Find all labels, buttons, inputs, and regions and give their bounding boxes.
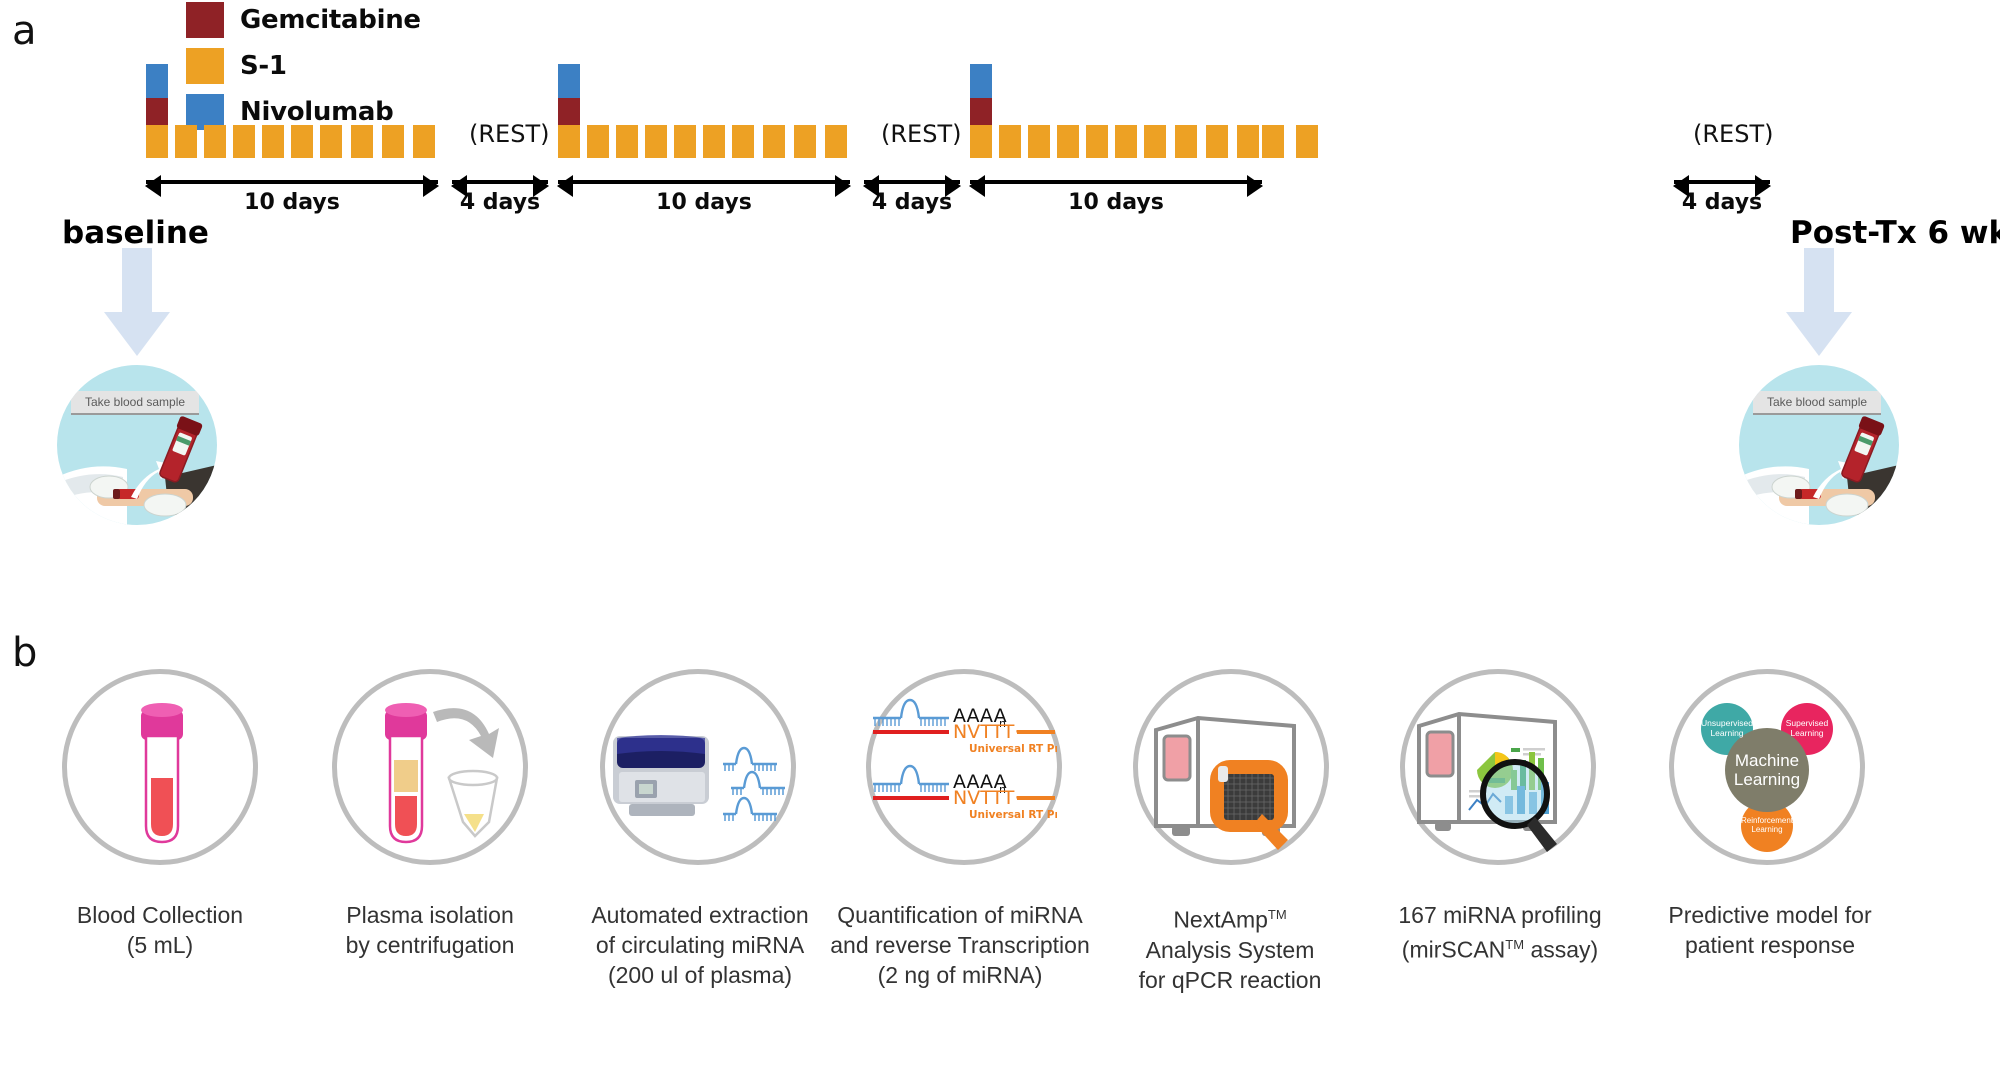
legend-label-gemcitabine: Gemcitabine [240,5,421,35]
duration-label: 10 days [558,190,850,215]
dose-bar-s1 [351,125,373,158]
cycle-3-doses [970,62,1260,158]
dose-bar-s1 [616,125,638,158]
workflow-circle-blood-collection [62,669,258,865]
duration-cycle-1: 10 days [146,180,438,215]
qpcr-analyzer-icon [1138,674,1324,860]
workflow-circle-mirna-profiling [1400,669,1596,865]
caption-line: for qPCR reaction [1070,965,1390,995]
panel-a-letter: a [12,8,37,54]
ml-node-label: Unsupervised Learning [1701,719,1753,738]
duration-label: 10 days [146,190,438,215]
dose-bar-s1 [1296,125,1318,158]
dose-bar-day1-cycle2 [558,64,580,158]
duration-rest-3: 4 days [1674,180,1770,215]
legend-item-gemcitabine: Gemcitabine [186,2,421,38]
workflow-circle-quantification-rt: AAAA n NVTTT··· Universal RT Primer AAAA… [866,669,1062,865]
blood-draw-scene-icon [1739,365,1899,525]
gemcitabine-segment [146,98,168,125]
centrifuge-tube-icon [337,674,523,860]
nivolumab-segment [970,64,992,98]
dose-bar-s1 [1086,125,1108,158]
duration-cycle-2: 10 days [558,180,850,215]
dose-bar-s1 [204,125,226,158]
dose-bar-s1 [645,125,667,158]
dose-bar-s1 [732,125,754,158]
dose-bar-s1 [233,125,255,158]
legend-swatch-gemcitabine [186,2,224,38]
dose-bar-s1 [1144,125,1166,158]
dose-bar-s1 [262,125,284,158]
dose-bar-s1 [703,125,725,158]
dose-bar-s1 [1262,125,1284,158]
dose-bar-s1 [413,125,435,158]
dose-bar-s1 [175,125,197,158]
blood-tube-icon [67,674,253,860]
s1-segment [970,125,992,158]
dose-bar-s1 [1028,125,1050,158]
workflow-circle-plasma-isolation [332,669,528,865]
workflow-circle-automated-extraction [600,669,796,865]
duration-arrow [146,180,438,184]
extraction-instrument-icon [605,674,791,860]
cycle-1-doses [146,62,436,158]
duration-rest-1: 4 days [452,180,548,215]
caption-line: patient response [1610,930,1930,960]
workflow-circle-predictive-model: Unsupervised Learning Supervised Learnin… [1669,669,1865,865]
timepoint-label-post-tx: Post-Tx 6 wks [1790,215,2000,251]
s1-segment [146,125,168,158]
post-tx-down-arrow-icon [1786,248,1852,356]
magnifier-charts-icon [1405,674,1591,860]
dose-bar-s1 [674,125,696,158]
gemcitabine-segment [970,98,992,125]
dose-bar-s1 [825,125,847,158]
dose-bar-s1 [587,125,609,158]
nivolumab-segment [146,64,168,98]
duration-rest-2: 4 days [864,180,960,215]
gemcitabine-segment [558,98,580,125]
ml-node-supervised: Supervised Learning [1784,706,1830,752]
duration-cycle-3: 10 days [970,180,1262,215]
dose-bar-s1 [382,125,404,158]
duration-arrow [864,180,960,184]
duration-label: 10 days [970,190,1262,215]
dose-bar-s1 [1057,125,1079,158]
duration-arrow [452,180,548,184]
dose-bar-s1 [1206,125,1228,158]
rest-label-3: (REST) [1693,120,1773,148]
workflow-circle-nextamp-qpcr [1133,669,1329,865]
dose-bar-s1 [1175,125,1197,158]
ml-node-label: Supervised Learning [1784,719,1830,738]
timepoint-label-baseline: baseline [62,215,209,251]
dose-bar-s1 [291,125,313,158]
ml-node-label: Reinforcement Learning [1741,817,1793,835]
duration-arrow [558,180,850,184]
dose-bar-s1 [763,125,785,158]
blood-draw-scene-icon [57,365,217,525]
rest-label-2: (REST) [881,120,961,148]
dose-bar-day1-cycle1 [146,64,168,158]
rt-primer-diagram-icon: AAAA n NVTTT··· Universal RT Primer AAAA… [871,674,1057,860]
baseline-down-arrow-icon [104,248,170,356]
svg-text:Universal RT Primer: Universal RT Primer [969,743,1057,755]
duration-arrow [970,180,1262,184]
nivolumab-segment [558,64,580,98]
duration-arrow [1674,180,1770,184]
ml-center-text: Machine Learning [1727,751,1807,789]
dose-bar-s1 [320,125,342,158]
rest-label-1: (REST) [469,120,549,148]
dose-bar-s1 [794,125,816,158]
s1-segment [558,125,580,158]
ml-center-label: Machine Learning [1727,747,1807,793]
panel-b-letter: b [12,630,37,676]
blood-draw-illustration-post-tx: Take blood sample [1739,365,1899,525]
dose-bar-s1 [999,125,1021,158]
dose-bar-day1-cycle3 [970,64,992,158]
cycle-2-doses [558,62,848,158]
dose-bar-s1 [1115,125,1137,158]
caption-line: Predictive model for [1610,900,1930,930]
ml-node-unsupervised: Unsupervised Learning [1704,706,1750,752]
ml-node-reinforcement: Reinforcement Learning [1744,803,1790,849]
cycle-3-doses-continued [1262,62,1552,158]
svg-text:Universal RT Primer: Universal RT Primer [969,809,1057,821]
blood-draw-illustration-baseline: Take blood sample [57,365,217,525]
dose-bar-s1 [1237,125,1259,158]
workflow-caption-predictive-model: Predictive model for patient response [1610,900,1930,960]
